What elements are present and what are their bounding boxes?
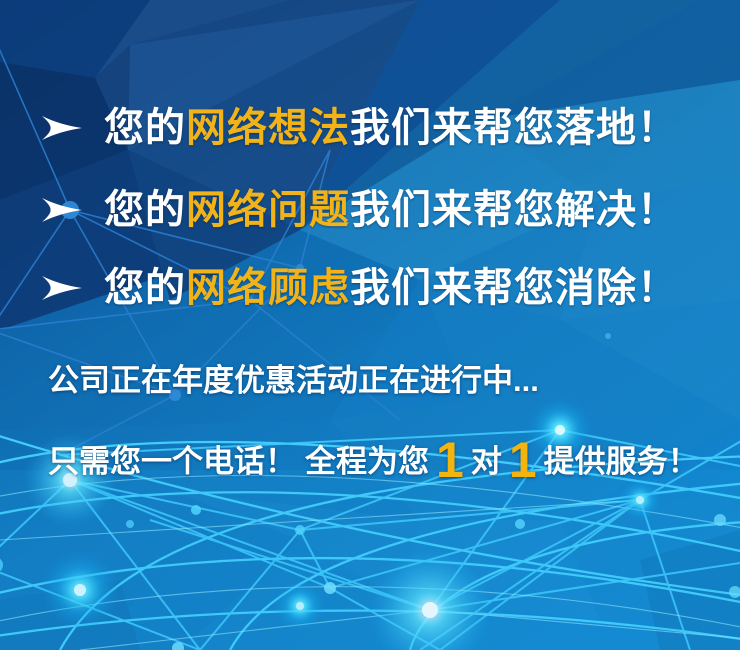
service-part-1: 只需您一个电话！ bbox=[48, 446, 296, 477]
bullet-text-2: 您的网络问题我们来帮您解决！ bbox=[104, 190, 678, 230]
promo-line-row: 公司正在年度优惠活动正在进行中... bbox=[48, 365, 539, 396]
service-part-4: 提供服务！ bbox=[544, 446, 699, 477]
arrow-right-icon bbox=[38, 113, 84, 143]
bullet-3-suffix: 我们来帮您消除！ bbox=[350, 268, 678, 308]
bullet-row-1: 您的网络想法我们来帮您落地！ bbox=[38, 108, 678, 148]
service-part-3: 对 bbox=[471, 446, 502, 477]
bullet-2-suffix: 我们来帮您解决！ bbox=[350, 190, 678, 230]
arrow-right-icon bbox=[38, 273, 84, 303]
bullet-2-prefix: 您的 bbox=[104, 190, 186, 230]
bullet-2-highlight: 网络问题 bbox=[186, 190, 350, 230]
bullet-row-3: 您的网络顾虑我们来帮您消除！ bbox=[38, 268, 678, 308]
service-number-1: 1 bbox=[429, 435, 471, 485]
promo-banner: 您的网络想法我们来帮您落地！ 您的网络问题我们来帮您解决！ 您的网络顾虑我们来帮… bbox=[0, 0, 740, 650]
bullet-text-1: 您的网络想法我们来帮您落地！ bbox=[104, 108, 678, 148]
service-part-2: 全程为您 bbox=[305, 446, 429, 477]
bullet-text-3: 您的网络顾虑我们来帮您消除！ bbox=[104, 268, 678, 308]
bullet-1-prefix: 您的 bbox=[104, 108, 186, 148]
promo-line-text: 公司正在年度优惠活动正在进行中... bbox=[48, 365, 539, 396]
arrow-right-icon bbox=[38, 195, 84, 225]
bullet-row-2: 您的网络问题我们来帮您解决！ bbox=[38, 190, 678, 230]
bullet-1-suffix: 我们来帮您落地！ bbox=[350, 108, 678, 148]
bullet-3-highlight: 网络顾虑 bbox=[186, 268, 350, 308]
service-number-2: 1 bbox=[502, 435, 544, 485]
bullet-1-highlight: 网络想法 bbox=[186, 108, 350, 148]
service-line-row: 只需您一个电话！ 全程为您 1 对 1 提供服务！ bbox=[48, 430, 699, 480]
bullet-3-prefix: 您的 bbox=[104, 268, 186, 308]
banner-content: 您的网络想法我们来帮您落地！ 您的网络问题我们来帮您解决！ 您的网络顾虑我们来帮… bbox=[0, 0, 740, 650]
